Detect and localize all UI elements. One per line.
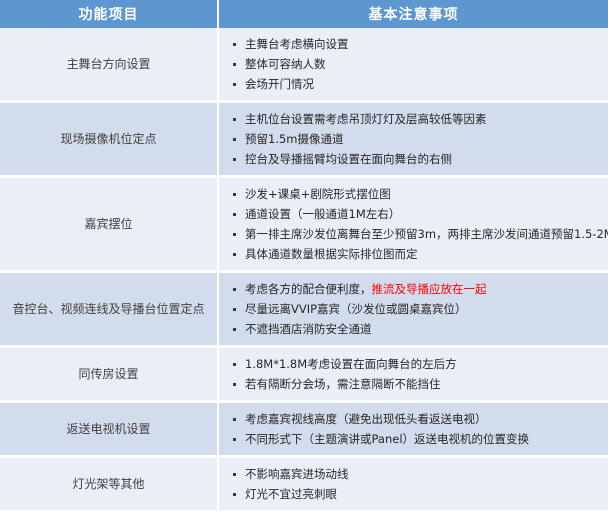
event-checklist-table-container: 功能项目 基本注意事项 主舞台方向设置主舞台考虑横向设置整体可容纳人数会场开门情… (0, 0, 608, 451)
note-text: 灯光不宜过亮刺眼 (245, 487, 337, 501)
row-notes-cell: 沙发+课桌+剧院形式摆位图通道设置（一般通道1M左右）第一排主席沙发位离舞台至少… (219, 178, 608, 273)
row-item-label: 现场摄像机位定点 (0, 103, 219, 178)
notes-list: 主机位台设置需考虑吊顶灯灯及层高较低等因素预留1.5m摄像通道控台及导播摇臂均设… (229, 109, 602, 169)
row-item-label: 同传房设置 (0, 348, 219, 403)
table-body: 主舞台方向设置主舞台考虑横向设置整体可容纳人数会场开门情况现场摄像机位定点主机位… (0, 28, 608, 513)
note-text: 沙发+课桌+剧院形式摆位图 (245, 187, 391, 201)
row-notes-cell: 1.8M*1.8M考虑设置在面向舞台的左后方若有隔断分会场，需注意隔断不能挡住 (219, 348, 608, 403)
note-text: 不遮挡酒店消防安全通道 (245, 322, 372, 336)
note-item: 尽量远离VVIP嘉宾（沙发位或圆桌嘉宾位） (229, 299, 602, 319)
note-item: 不影响嘉宾进场动线 (229, 464, 602, 484)
table-header: 功能项目 基本注意事项 (0, 0, 608, 28)
row-notes-cell: 主舞台考虑横向设置整体可容纳人数会场开门情况 (219, 28, 608, 103)
note-text: 主机位台设置需考虑吊顶灯灯及层高较低等因素 (245, 112, 487, 126)
row-item-label: 灯光架等其他 (0, 458, 219, 513)
note-item: 会场开门情况 (229, 74, 602, 94)
row-notes-cell: 考虑嘉宾视线高度（避免出现低头看返送电视）不同形式下（主题演讲或Panel）返送… (219, 403, 608, 458)
note-item: 不同形式下（主题演讲或Panel）返送电视机的位置变换 (229, 429, 602, 449)
note-text: 不影响嘉宾进场动线 (245, 467, 349, 481)
note-item: 考虑各方的配合便利度，推流及导播应放在一起 (229, 279, 602, 299)
note-item: 不遮挡酒店消防安全通道 (229, 319, 602, 339)
event-checklist-table: 功能项目 基本注意事项 主舞台方向设置主舞台考虑横向设置整体可容纳人数会场开门情… (0, 0, 608, 513)
column-header-notes: 基本注意事项 (219, 0, 608, 28)
note-item: 第一排主席沙发位离舞台至少预留3m，两排主席沙发间通道预留1.5-2M (229, 224, 602, 244)
note-item: 具体通道数量根据实际排位图而定 (229, 244, 602, 264)
table-row: 主舞台方向设置主舞台考虑横向设置整体可容纳人数会场开门情况 (0, 28, 608, 103)
notes-list: 主舞台考虑横向设置整体可容纳人数会场开门情况 (229, 34, 602, 94)
note-item: 灯光不宜过亮刺眼 (229, 484, 602, 504)
note-item: 整体可容纳人数 (229, 54, 602, 74)
note-text: 考虑嘉宾视线高度（避免出现低头看返送电视） (245, 412, 487, 426)
table-row: 灯光架等其他不影响嘉宾进场动线灯光不宜过亮刺眼 (0, 458, 608, 513)
table-row: 音控台、视频连线及导播台位置定点考虑各方的配合便利度，推流及导播应放在一起尽量远… (0, 273, 608, 348)
table-row: 嘉宾摆位沙发+课桌+剧院形式摆位图通道设置（一般通道1M左右）第一排主席沙发位离… (0, 178, 608, 273)
note-text: 若有隔断分会场，需注意隔断不能挡住 (245, 377, 441, 391)
column-header-item: 功能项目 (0, 0, 219, 28)
table-row: 现场摄像机位定点主机位台设置需考虑吊顶灯灯及层高较低等因素预留1.5m摄像通道控… (0, 103, 608, 178)
note-item: 考虑嘉宾视线高度（避免出现低头看返送电视） (229, 409, 602, 429)
note-text: 1.8M*1.8M考虑设置在面向舞台的左后方 (245, 357, 457, 371)
row-notes-cell: 不影响嘉宾进场动线灯光不宜过亮刺眼 (219, 458, 608, 513)
note-text-highlighted: 推流及导播应放在一起 (372, 282, 487, 296)
row-item-label: 音控台、视频连线及导播台位置定点 (0, 273, 219, 348)
note-item: 1.8M*1.8M考虑设置在面向舞台的左后方 (229, 354, 602, 374)
notes-list: 1.8M*1.8M考虑设置在面向舞台的左后方若有隔断分会场，需注意隔断不能挡住 (229, 354, 602, 394)
table-row: 返送电视机设置考虑嘉宾视线高度（避免出现低头看返送电视）不同形式下（主题演讲或P… (0, 403, 608, 458)
notes-list: 沙发+课桌+剧院形式摆位图通道设置（一般通道1M左右）第一排主席沙发位离舞台至少… (229, 184, 602, 264)
note-text: 会场开门情况 (245, 77, 314, 91)
table-header-row: 功能项目 基本注意事项 (0, 0, 608, 28)
table-row: 同传房设置1.8M*1.8M考虑设置在面向舞台的左后方若有隔断分会场，需注意隔断… (0, 348, 608, 403)
note-text: 不同形式下（主题演讲或Panel）返送电视机的位置变换 (245, 432, 529, 446)
note-text: 控台及导播摇臂均设置在面向舞台的右侧 (245, 152, 452, 166)
notes-list: 考虑嘉宾视线高度（避免出现低头看返送电视）不同形式下（主题演讲或Panel）返送… (229, 409, 602, 449)
row-notes-cell: 考虑各方的配合便利度，推流及导播应放在一起尽量远离VVIP嘉宾（沙发位或圆桌嘉宾… (219, 273, 608, 348)
note-text: 具体通道数量根据实际排位图而定 (245, 247, 418, 261)
note-item: 预留1.5m摄像通道 (229, 129, 602, 149)
notes-list: 不影响嘉宾进场动线灯光不宜过亮刺眼 (229, 464, 602, 504)
note-item: 沙发+课桌+剧院形式摆位图 (229, 184, 602, 204)
note-text: 考虑各方的配合便利度， (245, 282, 372, 296)
row-item-label: 嘉宾摆位 (0, 178, 219, 273)
note-text: 第一排主席沙发位离舞台至少预留3m，两排主席沙发间通道预留1.5-2M (245, 227, 608, 241)
note-text: 主舞台考虑横向设置 (245, 37, 349, 51)
note-item: 主舞台考虑横向设置 (229, 34, 602, 54)
note-text: 尽量远离VVIP嘉宾（沙发位或圆桌嘉宾位） (245, 302, 467, 316)
note-item: 通道设置（一般通道1M左右） (229, 204, 602, 224)
row-item-label: 返送电视机设置 (0, 403, 219, 458)
note-item: 主机位台设置需考虑吊顶灯灯及层高较低等因素 (229, 109, 602, 129)
notes-list: 考虑各方的配合便利度，推流及导播应放在一起尽量远离VVIP嘉宾（沙发位或圆桌嘉宾… (229, 279, 602, 339)
row-notes-cell: 主机位台设置需考虑吊顶灯灯及层高较低等因素预留1.5m摄像通道控台及导播摇臂均设… (219, 103, 608, 178)
note-item: 若有隔断分会场，需注意隔断不能挡住 (229, 374, 602, 394)
note-text: 通道设置（一般通道1M左右） (245, 207, 400, 221)
note-item: 控台及导播摇臂均设置在面向舞台的右侧 (229, 149, 602, 169)
note-text: 整体可容纳人数 (245, 57, 326, 71)
note-text: 预留1.5m摄像通道 (245, 132, 344, 146)
row-item-label: 主舞台方向设置 (0, 28, 219, 103)
